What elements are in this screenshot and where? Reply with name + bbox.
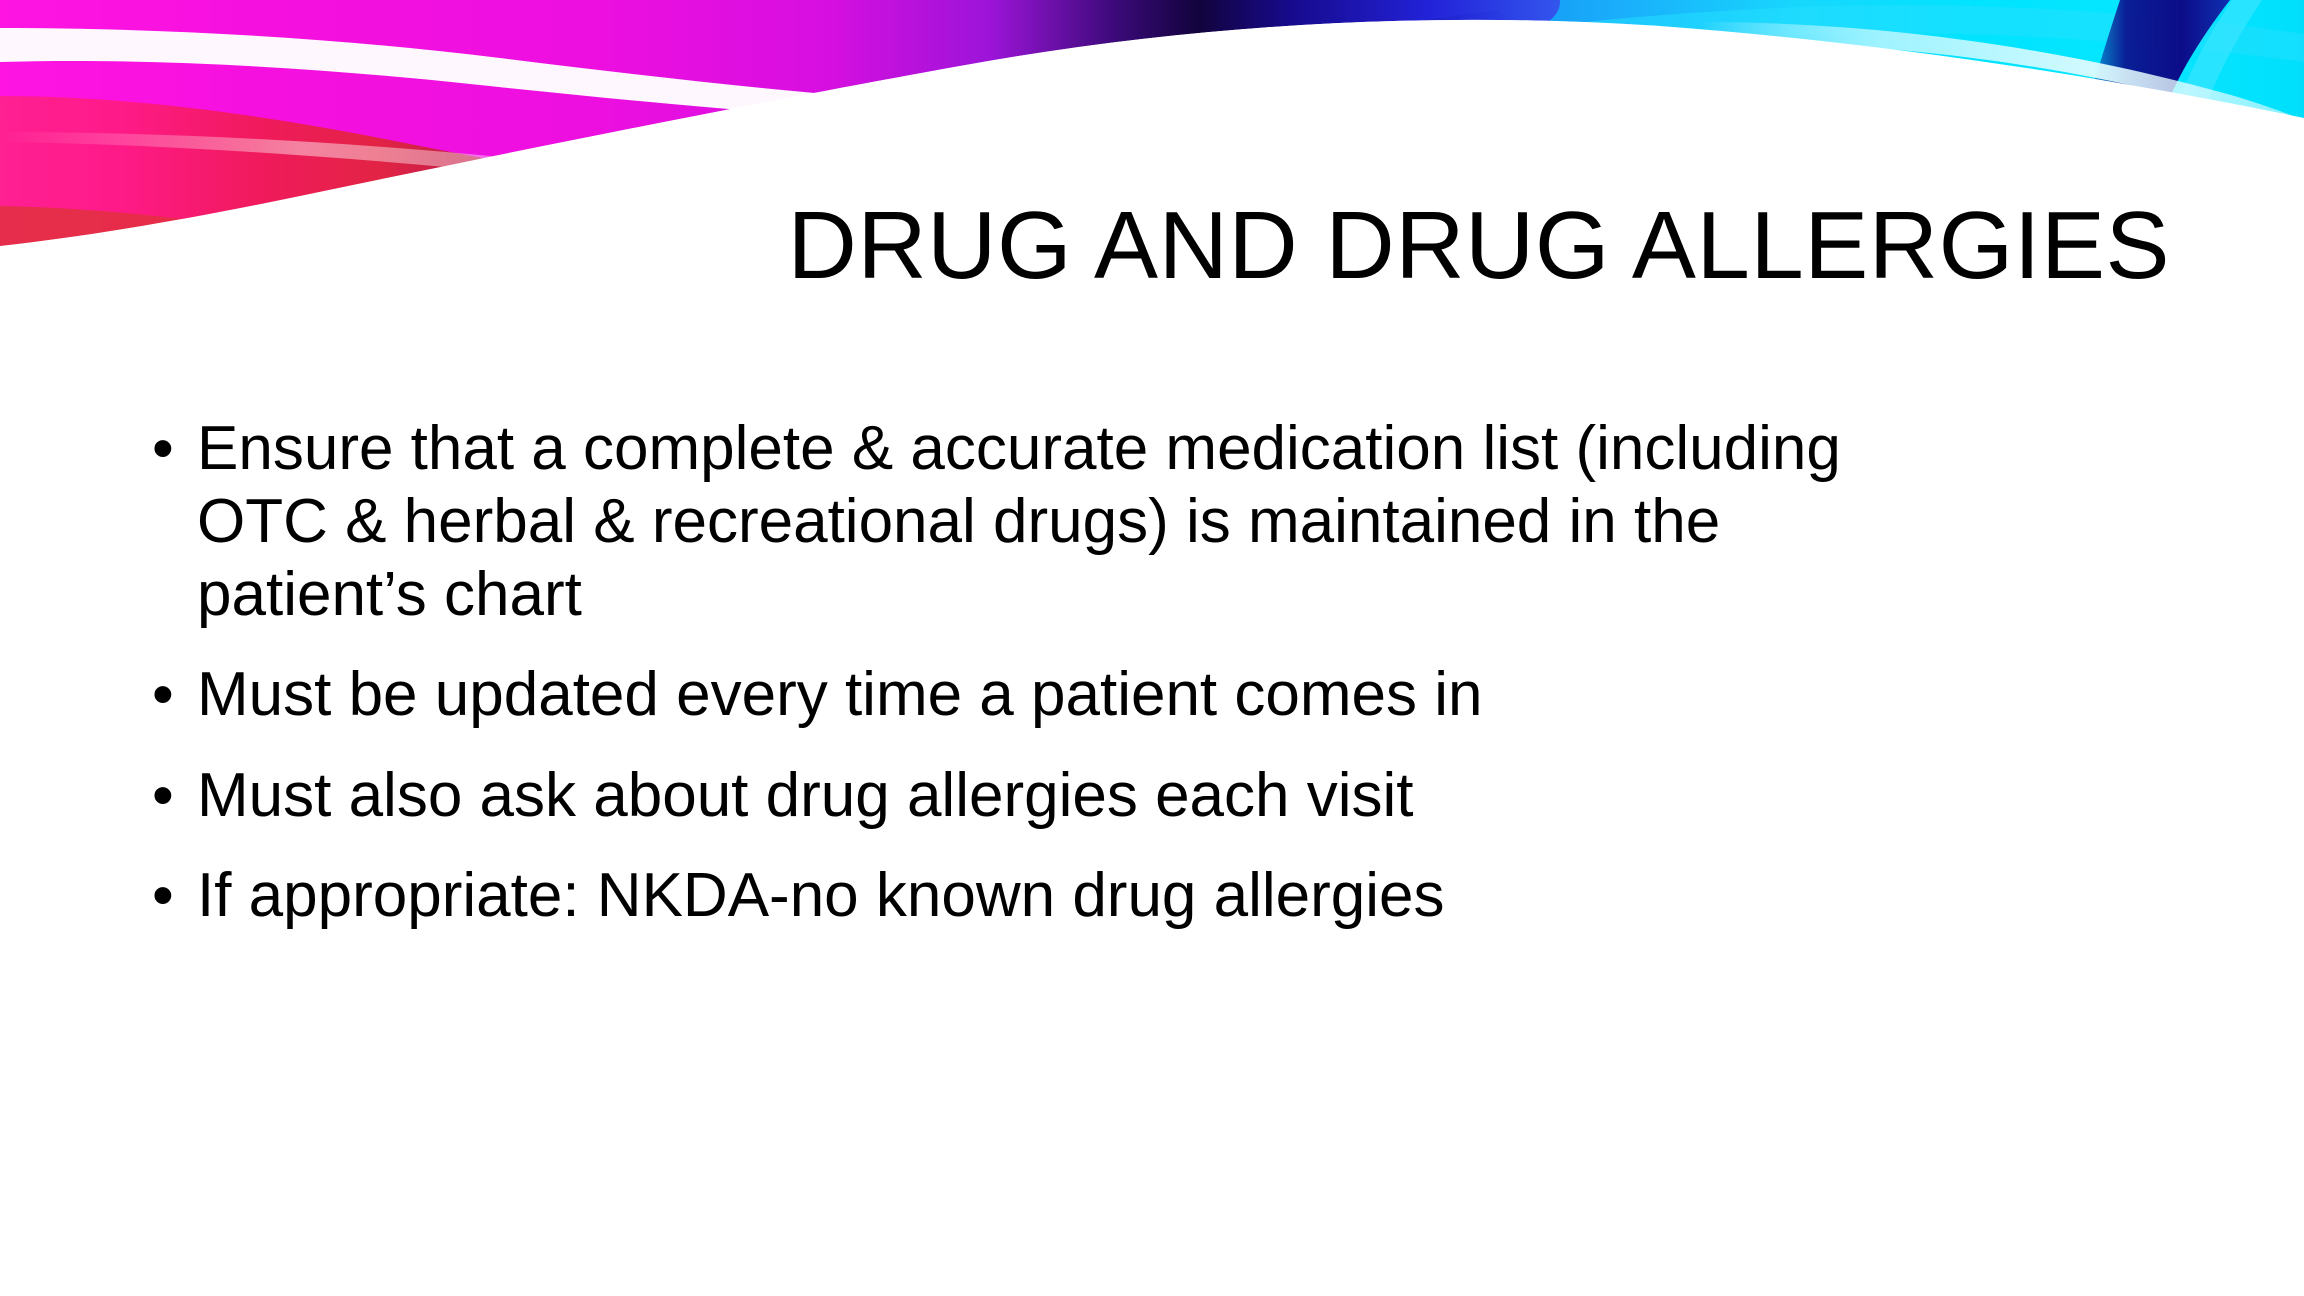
wave-right-navy-band — [2070, 0, 2230, 224]
slide-title: DRUG AND DRUG ALLERGIES — [760, 196, 2170, 297]
wave-cyan-ribbon — [1300, 5, 2304, 92]
bullet-text-1: Ensure that a complete & accurate medica… — [197, 412, 1927, 631]
bullet-item-2: • Must be updated every time a patient c… — [140, 658, 2160, 731]
presentation-slide: DRUG AND DRUG ALLERGIES • Ensure that a … — [0, 0, 2304, 1296]
bullet-marker-icon: • — [152, 412, 174, 485]
bullet-text-4: If appropriate: NKDA-no known drug aller… — [197, 859, 1927, 932]
bullet-item-4: • If appropriate: NKDA-no known drug all… — [140, 859, 2160, 932]
bullet-text-3: Must also ask about drug allergies each … — [197, 759, 1927, 832]
wave-right-cyan-highlight — [2164, 0, 2263, 232]
slide-body-bullet-list: • Ensure that a complete & accurate medi… — [140, 412, 2160, 932]
bullet-item-3: • Must also ask about drug allergies eac… — [140, 759, 2160, 832]
wave-cyan-mass — [1520, 0, 2304, 130]
bullet-text-2: Must be updated every time a patient com… — [197, 658, 1927, 731]
wave-navy-stripe — [900, 10, 1520, 176]
wave-red-edge — [0, 206, 640, 289]
bullet-marker-icon: • — [152, 759, 174, 832]
wave-cyan-glow — [1700, 22, 2304, 136]
wave-violet-understripe — [980, 22, 1640, 180]
bullet-marker-icon: • — [152, 859, 174, 932]
bullet-item-1: • Ensure that a complete & accurate medi… — [140, 412, 2160, 631]
bullet-marker-icon: • — [152, 658, 174, 731]
wave-white-gap — [0, 28, 960, 124]
